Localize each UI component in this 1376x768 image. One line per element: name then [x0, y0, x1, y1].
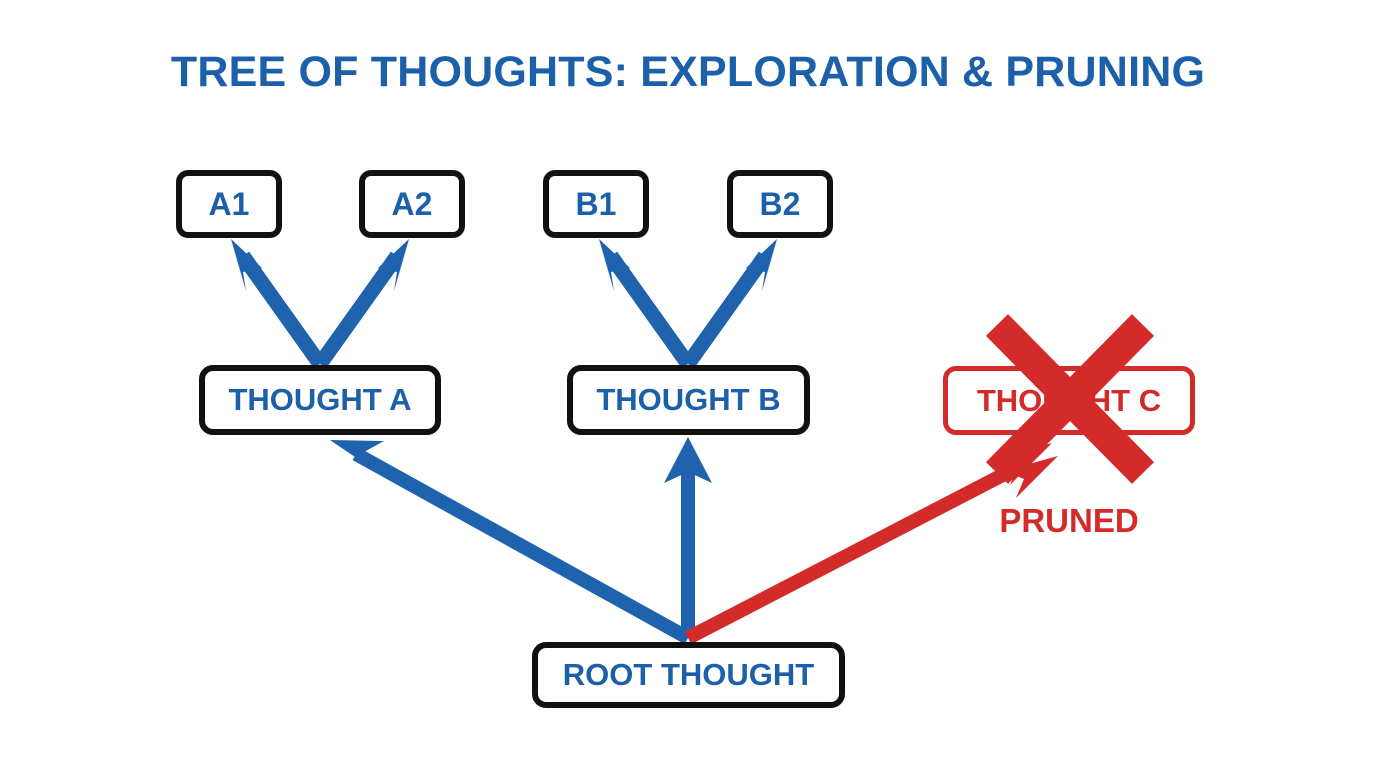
- node-b2[interactable]: B2: [727, 170, 833, 238]
- node-thought-c-label: THOUGHT C: [977, 383, 1161, 419]
- node-root-thought-label: ROOT THOUGHT: [563, 657, 814, 693]
- edge-thought-a-to-a1: [231, 239, 320, 364]
- node-thought-c[interactable]: THOUGHT C: [943, 366, 1195, 435]
- node-thought-b[interactable]: THOUGHT B: [567, 365, 810, 435]
- pruned-annotation: PRUNED: [940, 502, 1198, 540]
- edge-thought-a-to-a2: [320, 239, 409, 364]
- node-a1-label: A1: [209, 186, 250, 223]
- node-thought-b-label: THOUGHT B: [596, 382, 780, 418]
- edge-root-to-thought-c: [688, 443, 1058, 638]
- node-thought-a-label: THOUGHT A: [228, 382, 411, 418]
- node-a2[interactable]: A2: [359, 170, 465, 238]
- node-b1-label: B1: [576, 186, 617, 223]
- node-b1[interactable]: B1: [543, 170, 649, 238]
- edge-root-to-thought-a: [330, 440, 688, 638]
- node-b2-label: B2: [760, 186, 801, 223]
- edge-thought-b-to-b1: [599, 239, 688, 364]
- node-a1[interactable]: A1: [176, 170, 282, 238]
- node-root-thought[interactable]: ROOT THOUGHT: [532, 642, 845, 708]
- node-thought-a[interactable]: THOUGHT A: [199, 365, 441, 435]
- node-a2-label: A2: [392, 186, 433, 223]
- diagram-canvas: TREE OF THOUGHTS: EXPLORATION & PRUNING: [0, 0, 1376, 768]
- edge-thought-b-to-b2: [688, 239, 777, 364]
- edge-root-to-thought-b: [664, 437, 712, 638]
